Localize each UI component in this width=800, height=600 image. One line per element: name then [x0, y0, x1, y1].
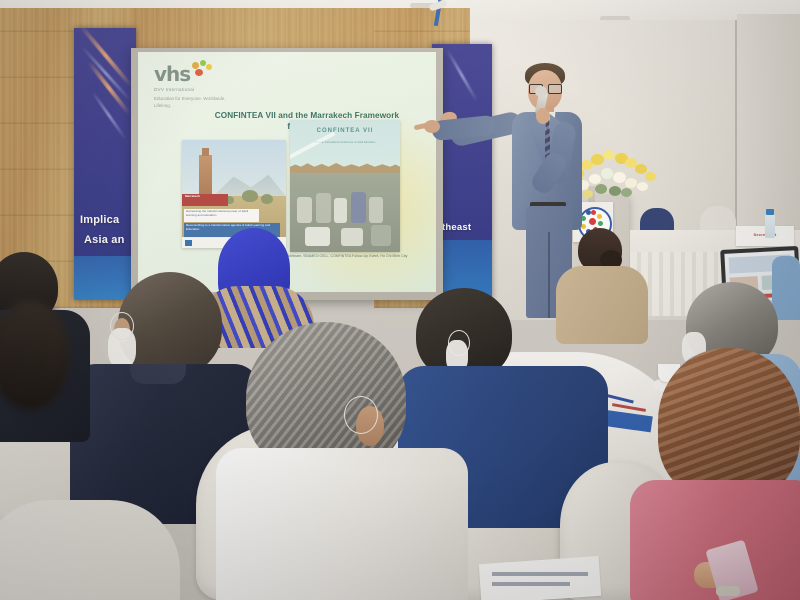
attendee-pink-blouse [620, 348, 800, 600]
confintea-poster-header: CONFINTEA VII [290, 128, 400, 134]
vhs-logo-subtitle: DVV International [154, 87, 194, 92]
torso [0, 500, 180, 600]
presenter-right-hand [536, 108, 550, 124]
vhs-logo-word: vhs [154, 62, 194, 86]
slide-tagline: Education for Everyone. Worldwide. Lifel… [154, 96, 238, 110]
poster-footer-logo [185, 240, 192, 246]
collar [130, 364, 186, 384]
table-paper [479, 556, 601, 600]
banner-left-line2: Asia an [84, 234, 125, 246]
vhs-logo-dots [190, 60, 216, 78]
torso [216, 448, 468, 600]
head [658, 348, 800, 500]
mask-ear-loop [110, 312, 134, 340]
conference-room-photo: Implica Asia an utheast Vietnam vhs DVV … [0, 0, 800, 600]
attendee-white-shirt-left [0, 500, 180, 600]
attendee-grey-hair [216, 322, 468, 600]
mask-ear-loop [344, 396, 378, 434]
poster-red-band-text: Marrakech [185, 195, 225, 199]
watch [716, 586, 740, 596]
background-water-bottle [765, 214, 775, 238]
microphone-head [535, 86, 547, 97]
banner-left-line1: Implica [80, 214, 119, 226]
vhs-logo: vhs DVV International [154, 62, 194, 92]
table-paper-text [492, 572, 588, 576]
table-paper-text [492, 582, 570, 586]
poster-white-band-text: Harnessing the transformational power of… [186, 210, 255, 218]
